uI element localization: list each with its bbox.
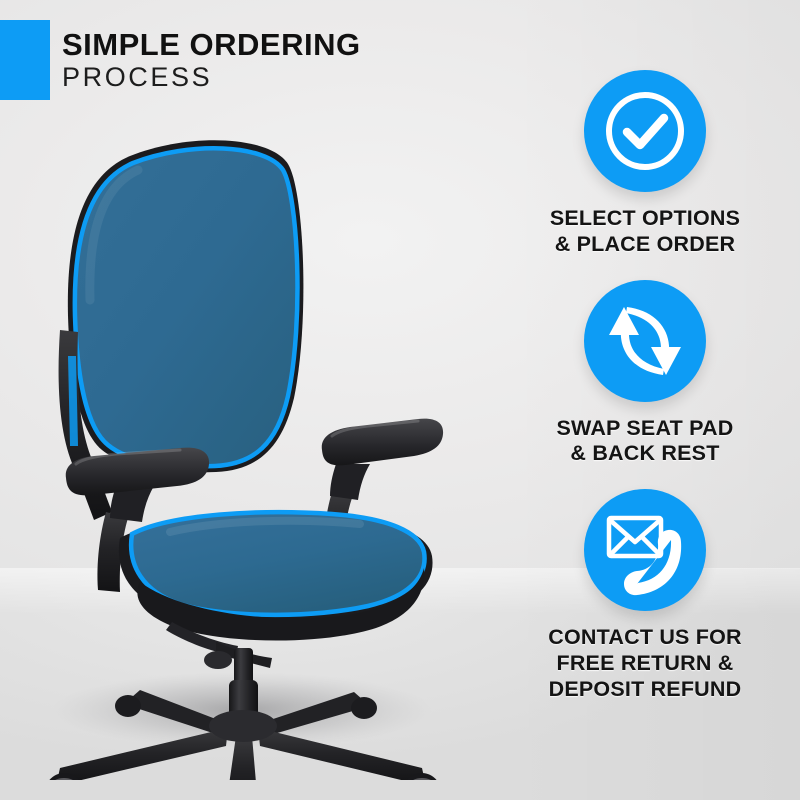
envelope-phone-icon xyxy=(584,489,706,611)
caption-line: DEPOSIT REFUND xyxy=(548,677,742,703)
base-hub xyxy=(209,710,277,742)
feature-caption: CONTACT US FOR FREE RETURN & DEPOSIT REF… xyxy=(548,625,742,702)
header-banner: SIMPLE ORDERING PROCESS xyxy=(0,20,361,100)
feature-caption: SELECT OPTIONS & PLACE ORDER xyxy=(550,206,740,258)
header-accent-block xyxy=(0,20,50,100)
product-image-chair xyxy=(20,120,460,780)
swap-arrows-icon xyxy=(584,280,706,402)
caster-back-right xyxy=(351,697,377,719)
caption-line: & PLACE ORDER xyxy=(550,232,740,258)
feature-item-select-options[interactable]: SELECT OPTIONS & PLACE ORDER xyxy=(500,70,790,258)
envelope-glyph xyxy=(609,518,661,556)
caption-line: FREE RETURN & xyxy=(548,651,742,677)
check-circle-icon xyxy=(584,70,706,192)
page-title: SIMPLE ORDERING xyxy=(62,28,361,61)
promo-infographic: SIMPLE ORDERING PROCESS xyxy=(0,0,800,800)
header-text-group: SIMPLE ORDERING PROCESS xyxy=(62,20,361,100)
feature-item-swap-seat-pad[interactable]: SWAP SEAT PAD & BACK REST xyxy=(500,280,790,468)
caption-line: CONTACT US FOR xyxy=(548,625,742,651)
chair-armrest-right-stem xyxy=(330,464,370,500)
caption-line: & BACK REST xyxy=(556,441,733,467)
chair-lever-knob xyxy=(204,651,232,669)
caster-back-left xyxy=(115,695,141,717)
feature-caption: SWAP SEAT PAD & BACK REST xyxy=(556,416,733,468)
feature-item-contact-us[interactable]: CONTACT US FOR FREE RETURN & DEPOSIT REF… xyxy=(500,489,790,702)
feature-list: SELECT OPTIONS & PLACE ORDER SWAP SEAT P… xyxy=(500,70,790,703)
page-subtitle: PROCESS xyxy=(62,62,361,92)
caption-line: SWAP SEAT PAD xyxy=(556,416,733,442)
caption-line: SELECT OPTIONS xyxy=(550,206,740,232)
